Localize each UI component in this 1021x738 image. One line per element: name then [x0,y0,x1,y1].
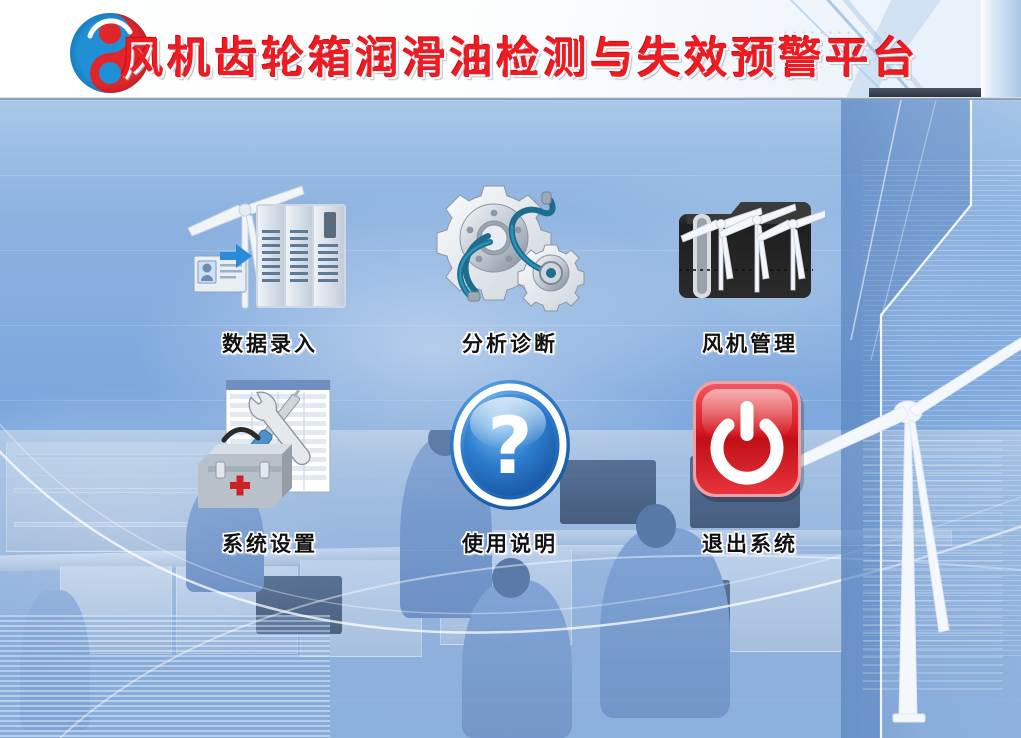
menu-label-turbine-manage: 风机管理 [702,328,798,358]
toolbox-wrench-icon [190,370,350,520]
lab-stripe-pattern [0,615,330,738]
menu-label-exit-system: 退出系统 [702,528,798,558]
menu-item-exit-system[interactable]: 退出系统 [630,370,870,570]
main-menu-grid: 数据录入 [150,180,870,620]
menu-label-user-manual: 使用说明 [462,528,558,558]
menu-label-system-settings: 系统设置 [222,528,318,558]
menu-item-user-manual[interactable]: ? 使用说明 [390,370,630,570]
application-window: 风机齿轮箱润滑油检测与失效预警平台 [0,0,1021,738]
svg-text:?: ? [487,402,532,492]
menu-item-turbine-manage[interactable]: 风机管理 [630,180,870,370]
question-mark-icon: ? [445,370,575,520]
page-title: 风机齿轮箱润滑油检测与失效预警平台 [200,26,840,84]
menu-label-data-entry: 数据录入 [222,328,318,358]
header-right-strip [981,0,1021,100]
menu-item-analysis[interactable]: 分析诊断 [390,180,630,370]
server-turbine-import-icon [180,180,360,320]
gears-stethoscope-icon [430,180,590,320]
right-panel-faint-text [863,440,1003,690]
power-button-icon [685,370,815,520]
black-folder-turbines-icon [675,180,825,320]
header-divider [0,97,1021,100]
header-bar: 风机齿轮箱润滑油检测与失效预警平台 [0,0,1021,100]
menu-label-analysis: 分析诊断 [462,328,558,358]
menu-item-data-entry[interactable]: 数据录入 [150,180,390,370]
header-dark-accent-bar [869,88,981,97]
menu-item-system-settings[interactable]: 系统设置 [150,370,390,570]
